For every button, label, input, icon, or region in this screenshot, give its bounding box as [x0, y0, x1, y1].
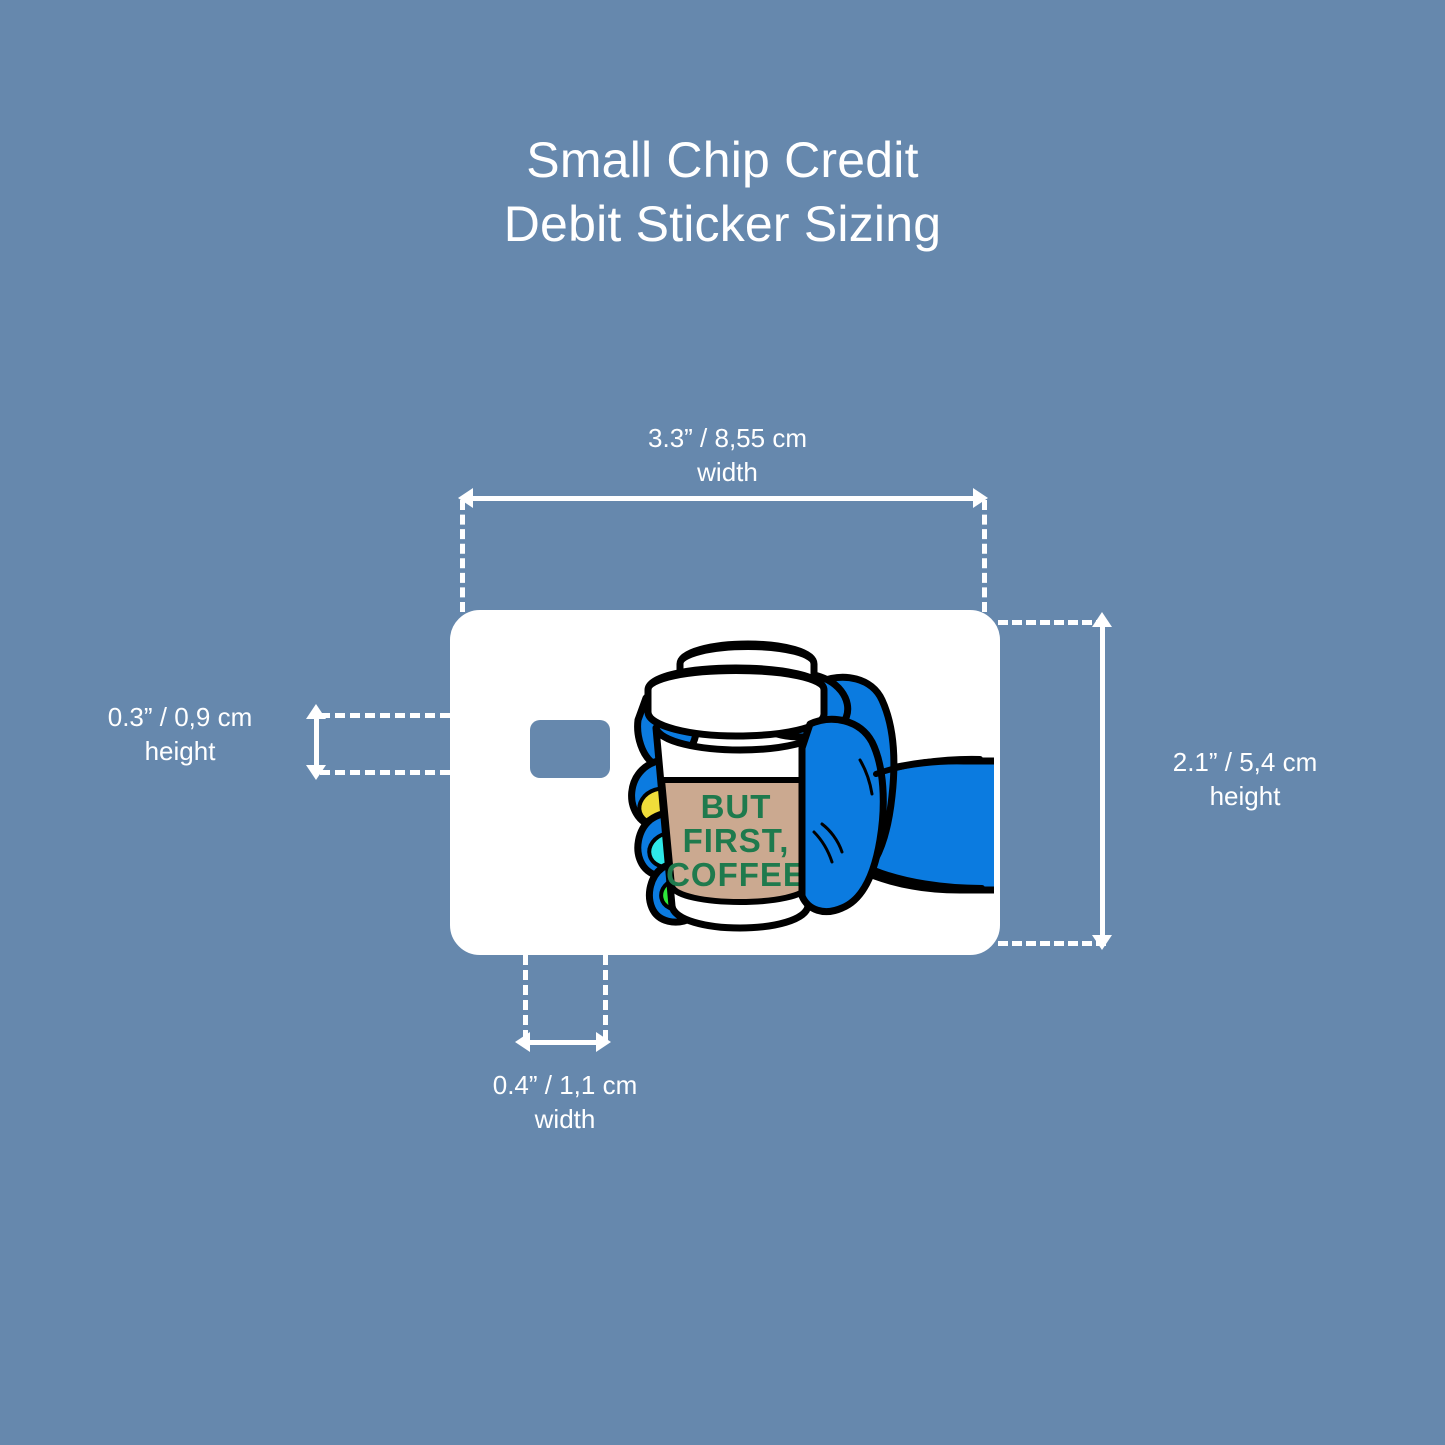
credit-debit-card-sticker[interactable]: BUT FIRST, COFFEE — [450, 610, 1000, 955]
but-first-coffee-illustration: BUT FIRST, COFFEE — [624, 628, 994, 948]
dimension-label-card-width: 3.3” / 8,55 cm width — [545, 421, 910, 489]
arrow-head-right-icon — [596, 1032, 611, 1052]
dimension-arrow-card-height — [1089, 612, 1115, 950]
cup-text-line-3: COFFEE — [666, 856, 806, 893]
arrow-shaft — [524, 1040, 602, 1045]
dimension-label-card-height: 2.1” / 5,4 cm height — [1120, 745, 1370, 813]
guide-line-chip-left — [523, 955, 528, 1040]
cup-text-line-2: FIRST, — [683, 822, 790, 859]
cup-text-line-1: BUT — [701, 788, 772, 825]
arrow-shaft — [1100, 621, 1105, 941]
guide-line-chip-right — [603, 955, 608, 1040]
dimension-arrow-chip-height — [303, 704, 329, 780]
page-title: Small Chip Credit Debit Sticker Sizing — [0, 128, 1445, 256]
guide-line-card-right — [982, 500, 987, 612]
arrow-head-down-icon — [1092, 935, 1112, 950]
dimension-arrow-card-width — [458, 485, 988, 511]
arrow-head-down-icon — [306, 765, 326, 780]
sizing-diagram: Small Chip Credit Debit Sticker Sizing 3… — [0, 0, 1445, 1445]
arrow-head-right-icon — [973, 488, 988, 508]
chip-cutout — [530, 720, 610, 778]
dimension-arrow-chip-width — [515, 1029, 611, 1055]
dimension-label-chip-width: 0.4” / 1,1 cm width — [445, 1068, 685, 1136]
arrow-shaft — [467, 496, 979, 501]
card-surface: BUT FIRST, COFFEE — [456, 616, 994, 949]
dimension-label-chip-height: 0.3” / 0,9 cm height — [60, 700, 300, 768]
arrow-shaft — [314, 713, 319, 771]
palm-shape — [802, 719, 883, 911]
guide-line-card-left — [460, 500, 465, 612]
